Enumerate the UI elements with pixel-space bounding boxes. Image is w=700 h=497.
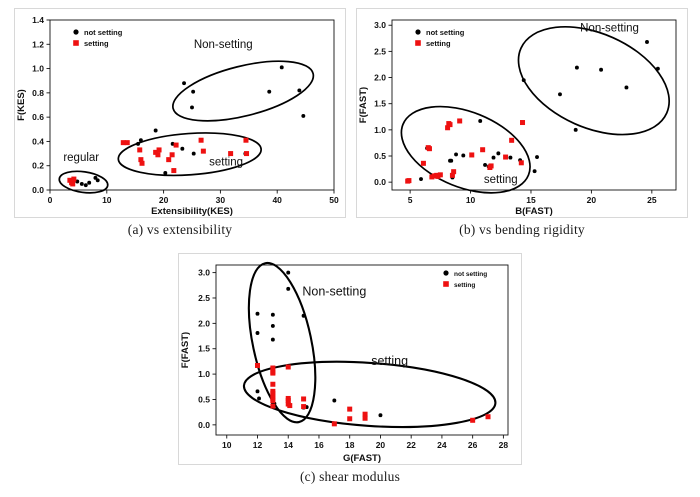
data-point-setting xyxy=(286,365,291,370)
data-point-not-setting xyxy=(461,154,465,158)
y-tick-label: 2.5 xyxy=(374,46,386,56)
x-axis-label: G(FAST) xyxy=(343,453,381,464)
data-point-not-setting xyxy=(332,399,336,403)
x-tick-label: 16 xyxy=(314,440,324,450)
data-point-setting xyxy=(332,421,337,426)
data-point-setting xyxy=(520,120,525,125)
data-point-not-setting xyxy=(154,129,158,133)
data-point-setting xyxy=(171,168,176,173)
data-point-not-setting xyxy=(192,152,196,156)
data-point-setting xyxy=(137,147,142,152)
legend-marker-not-setting xyxy=(73,29,78,34)
y-tick-label: 3.0 xyxy=(374,20,386,30)
x-tick-label: 5 xyxy=(408,195,413,205)
data-point-setting xyxy=(70,181,75,186)
data-point-setting xyxy=(255,363,260,368)
x-tick-label: 18 xyxy=(345,440,355,450)
data-point-not-setting xyxy=(87,181,91,185)
caption-c: (c) shear modulus xyxy=(178,469,522,485)
x-tick-label: 20 xyxy=(159,195,169,205)
data-point-not-setting xyxy=(256,312,260,316)
data-point-not-setting xyxy=(271,324,275,328)
x-tick-label: 0 xyxy=(48,195,53,205)
data-point-setting xyxy=(270,382,275,387)
data-point-not-setting xyxy=(449,159,453,163)
data-point-not-setting xyxy=(508,156,512,160)
data-point-setting xyxy=(451,169,456,174)
data-point-not-setting xyxy=(180,147,184,151)
data-point-not-setting xyxy=(533,169,537,173)
data-point-not-setting xyxy=(271,338,275,342)
x-tick-label: 22 xyxy=(406,440,416,450)
y-axis-label: F(KES) xyxy=(16,89,27,121)
y-tick-label: 0.4 xyxy=(32,136,44,146)
y-tick-label: 3.0 xyxy=(198,268,210,278)
data-point-setting xyxy=(155,152,160,157)
legend-label-not-setting: not setting xyxy=(426,28,465,37)
data-point-setting xyxy=(448,122,453,127)
x-tick-label: 20 xyxy=(587,195,597,205)
data-point-setting xyxy=(427,146,432,151)
data-point-not-setting xyxy=(599,68,603,72)
data-point-setting xyxy=(174,143,179,148)
data-point-setting xyxy=(199,138,204,143)
legend-marker-setting xyxy=(415,40,421,46)
data-point-not-setting xyxy=(84,183,88,187)
y-tick-label: 0.2 xyxy=(32,161,44,171)
data-point-setting xyxy=(421,161,426,166)
panel-a-extensibility: 010203040500.00.20.40.60.81.01.21.4Exten… xyxy=(14,8,346,218)
data-point-setting xyxy=(157,147,162,152)
data-point-not-setting xyxy=(302,314,306,318)
data-point-setting xyxy=(270,404,275,409)
data-point-setting xyxy=(270,398,275,403)
data-point-setting xyxy=(287,403,292,408)
x-axis-label: Extensibility(KES) xyxy=(151,206,233,217)
data-point-setting xyxy=(201,149,206,154)
y-tick-label: 2.0 xyxy=(198,318,210,328)
data-point-not-setting xyxy=(625,86,629,90)
group-label-non-setting: Non-setting xyxy=(580,23,639,35)
legend-marker-setting xyxy=(73,40,79,46)
x-tick-label: 12 xyxy=(253,440,263,450)
data-point-not-setting xyxy=(286,287,290,291)
data-point-not-setting xyxy=(256,389,260,393)
panel-c-plot: 101214161820222426280.00.51.01.52.02.53.… xyxy=(178,253,522,465)
x-tick-label: 24 xyxy=(437,440,447,450)
x-tick-label: 20 xyxy=(376,440,386,450)
data-point-setting xyxy=(301,404,306,409)
x-tick-label: 50 xyxy=(329,195,339,205)
data-point-not-setting xyxy=(492,156,496,160)
data-point-setting xyxy=(469,152,474,157)
data-point-not-setting xyxy=(163,171,167,175)
y-tick-label: 1.4 xyxy=(32,15,44,25)
data-point-setting xyxy=(480,147,485,152)
x-tick-label: 25 xyxy=(647,195,657,205)
data-point-not-setting xyxy=(136,142,140,146)
data-point-not-setting xyxy=(190,105,194,109)
data-point-setting xyxy=(406,178,411,183)
y-tick-label: 1.0 xyxy=(374,125,386,135)
data-point-not-setting xyxy=(656,67,660,71)
data-point-not-setting xyxy=(297,88,301,92)
data-point-not-setting xyxy=(483,163,487,167)
data-point-setting xyxy=(270,371,275,376)
panel-c-shear-modulus: 101214161820222426280.00.51.01.52.02.53.… xyxy=(178,253,522,465)
y-tick-label: 0.5 xyxy=(198,394,210,404)
data-point-not-setting xyxy=(454,152,458,156)
y-tick-label: 2.0 xyxy=(374,73,386,83)
data-point-not-setting xyxy=(80,182,84,186)
x-tick-label: 15 xyxy=(526,195,536,205)
x-tick-label: 40 xyxy=(272,195,282,205)
panel-b-bending-rigidity: 5101520250.00.51.01.52.02.53.0B(FAST)F(F… xyxy=(356,8,688,218)
y-tick-label: 1.5 xyxy=(198,344,210,354)
y-tick-label: 0.0 xyxy=(32,185,44,195)
data-point-not-setting xyxy=(256,331,260,335)
panel-a-plot: 010203040500.00.20.40.60.81.01.21.4Exten… xyxy=(14,8,346,218)
data-point-setting xyxy=(243,138,248,143)
y-axis-label: F(FAST) xyxy=(180,332,191,368)
legend-label-setting: setting xyxy=(426,39,451,48)
panel-b-plot: 5101520250.00.51.01.52.02.53.0B(FAST)F(F… xyxy=(356,8,688,218)
data-point-setting xyxy=(519,160,524,165)
data-point-setting xyxy=(489,163,494,168)
y-tick-label: 0.0 xyxy=(374,177,386,187)
data-point-not-setting xyxy=(139,138,143,142)
data-point-not-setting xyxy=(182,81,186,85)
legend-marker-not-setting xyxy=(415,29,420,34)
y-tick-label: 0.5 xyxy=(374,151,386,161)
data-point-setting xyxy=(457,118,462,123)
group-label-non-setting: Non-setting xyxy=(302,284,366,298)
data-point-setting xyxy=(503,155,508,160)
data-point-setting xyxy=(301,396,306,401)
data-point-setting xyxy=(71,177,76,182)
data-point-not-setting xyxy=(558,92,562,96)
data-point-not-setting xyxy=(535,155,539,159)
data-point-setting xyxy=(363,416,368,421)
x-tick-label: 26 xyxy=(468,440,478,450)
x-tick-label: 28 xyxy=(499,440,509,450)
data-point-not-setting xyxy=(645,40,649,44)
group-label-non-setting: Non-setting xyxy=(194,39,253,51)
y-tick-label: 0.6 xyxy=(32,112,44,122)
data-point-not-setting xyxy=(271,313,275,317)
data-point-setting xyxy=(470,418,475,423)
legend-marker-setting xyxy=(443,281,449,287)
data-point-not-setting xyxy=(280,65,284,69)
data-point-setting xyxy=(166,157,171,162)
caption-a: (a) vs extensibility xyxy=(14,222,346,238)
y-tick-label: 1.0 xyxy=(198,369,210,379)
x-axis-label: B(FAST) xyxy=(515,206,552,217)
data-point-not-setting xyxy=(575,66,579,70)
legend-label-setting: setting xyxy=(84,39,109,48)
x-tick-label: 10 xyxy=(102,195,112,205)
data-point-setting xyxy=(438,172,443,177)
data-point-setting xyxy=(486,414,491,419)
data-point-not-setting xyxy=(301,114,305,118)
data-point-not-setting xyxy=(419,177,423,181)
data-point-not-setting xyxy=(257,397,261,401)
group-label-setting: setting xyxy=(484,174,518,186)
data-point-not-setting xyxy=(286,271,290,275)
group-label-setting: setting xyxy=(209,157,243,169)
y-tick-label: 1.0 xyxy=(32,64,44,74)
x-tick-label: 30 xyxy=(216,195,226,205)
data-point-not-setting xyxy=(478,119,482,123)
data-point-setting xyxy=(347,407,352,412)
y-tick-label: 1.2 xyxy=(32,39,44,49)
data-point-setting xyxy=(509,138,514,143)
x-tick-label: 10 xyxy=(222,440,232,450)
data-point-not-setting xyxy=(191,90,195,94)
data-point-setting xyxy=(125,140,130,145)
data-point-not-setting xyxy=(378,413,382,417)
y-axis-label: F(FAST) xyxy=(358,87,369,123)
legend-marker-not-setting xyxy=(443,270,448,275)
data-point-not-setting xyxy=(574,128,578,132)
data-point-not-setting xyxy=(96,178,100,182)
data-point-not-setting xyxy=(522,78,526,82)
x-tick-label: 10 xyxy=(466,195,476,205)
figure-root: 010203040500.00.20.40.60.81.01.21.4Exten… xyxy=(0,0,700,497)
y-tick-label: 0.0 xyxy=(198,420,210,430)
group-label-regular: regular xyxy=(63,152,99,164)
legend-label-not-setting: not setting xyxy=(84,28,123,37)
y-tick-label: 0.8 xyxy=(32,88,44,98)
data-point-setting xyxy=(244,151,249,156)
legend-label-setting: setting xyxy=(454,282,475,289)
data-point-not-setting xyxy=(496,151,500,155)
y-tick-label: 2.5 xyxy=(198,293,210,303)
data-point-setting xyxy=(140,161,145,166)
group-label-setting: setting xyxy=(371,354,408,368)
caption-b: (b) vs bending rigidity xyxy=(356,222,688,238)
data-point-setting xyxy=(347,416,352,421)
legend-label-not-setting: not setting xyxy=(454,271,487,278)
data-point-not-setting xyxy=(267,90,271,94)
x-tick-label: 14 xyxy=(283,440,293,450)
y-tick-label: 1.5 xyxy=(374,99,386,109)
data-point-setting xyxy=(228,151,233,156)
data-point-setting xyxy=(170,152,175,157)
